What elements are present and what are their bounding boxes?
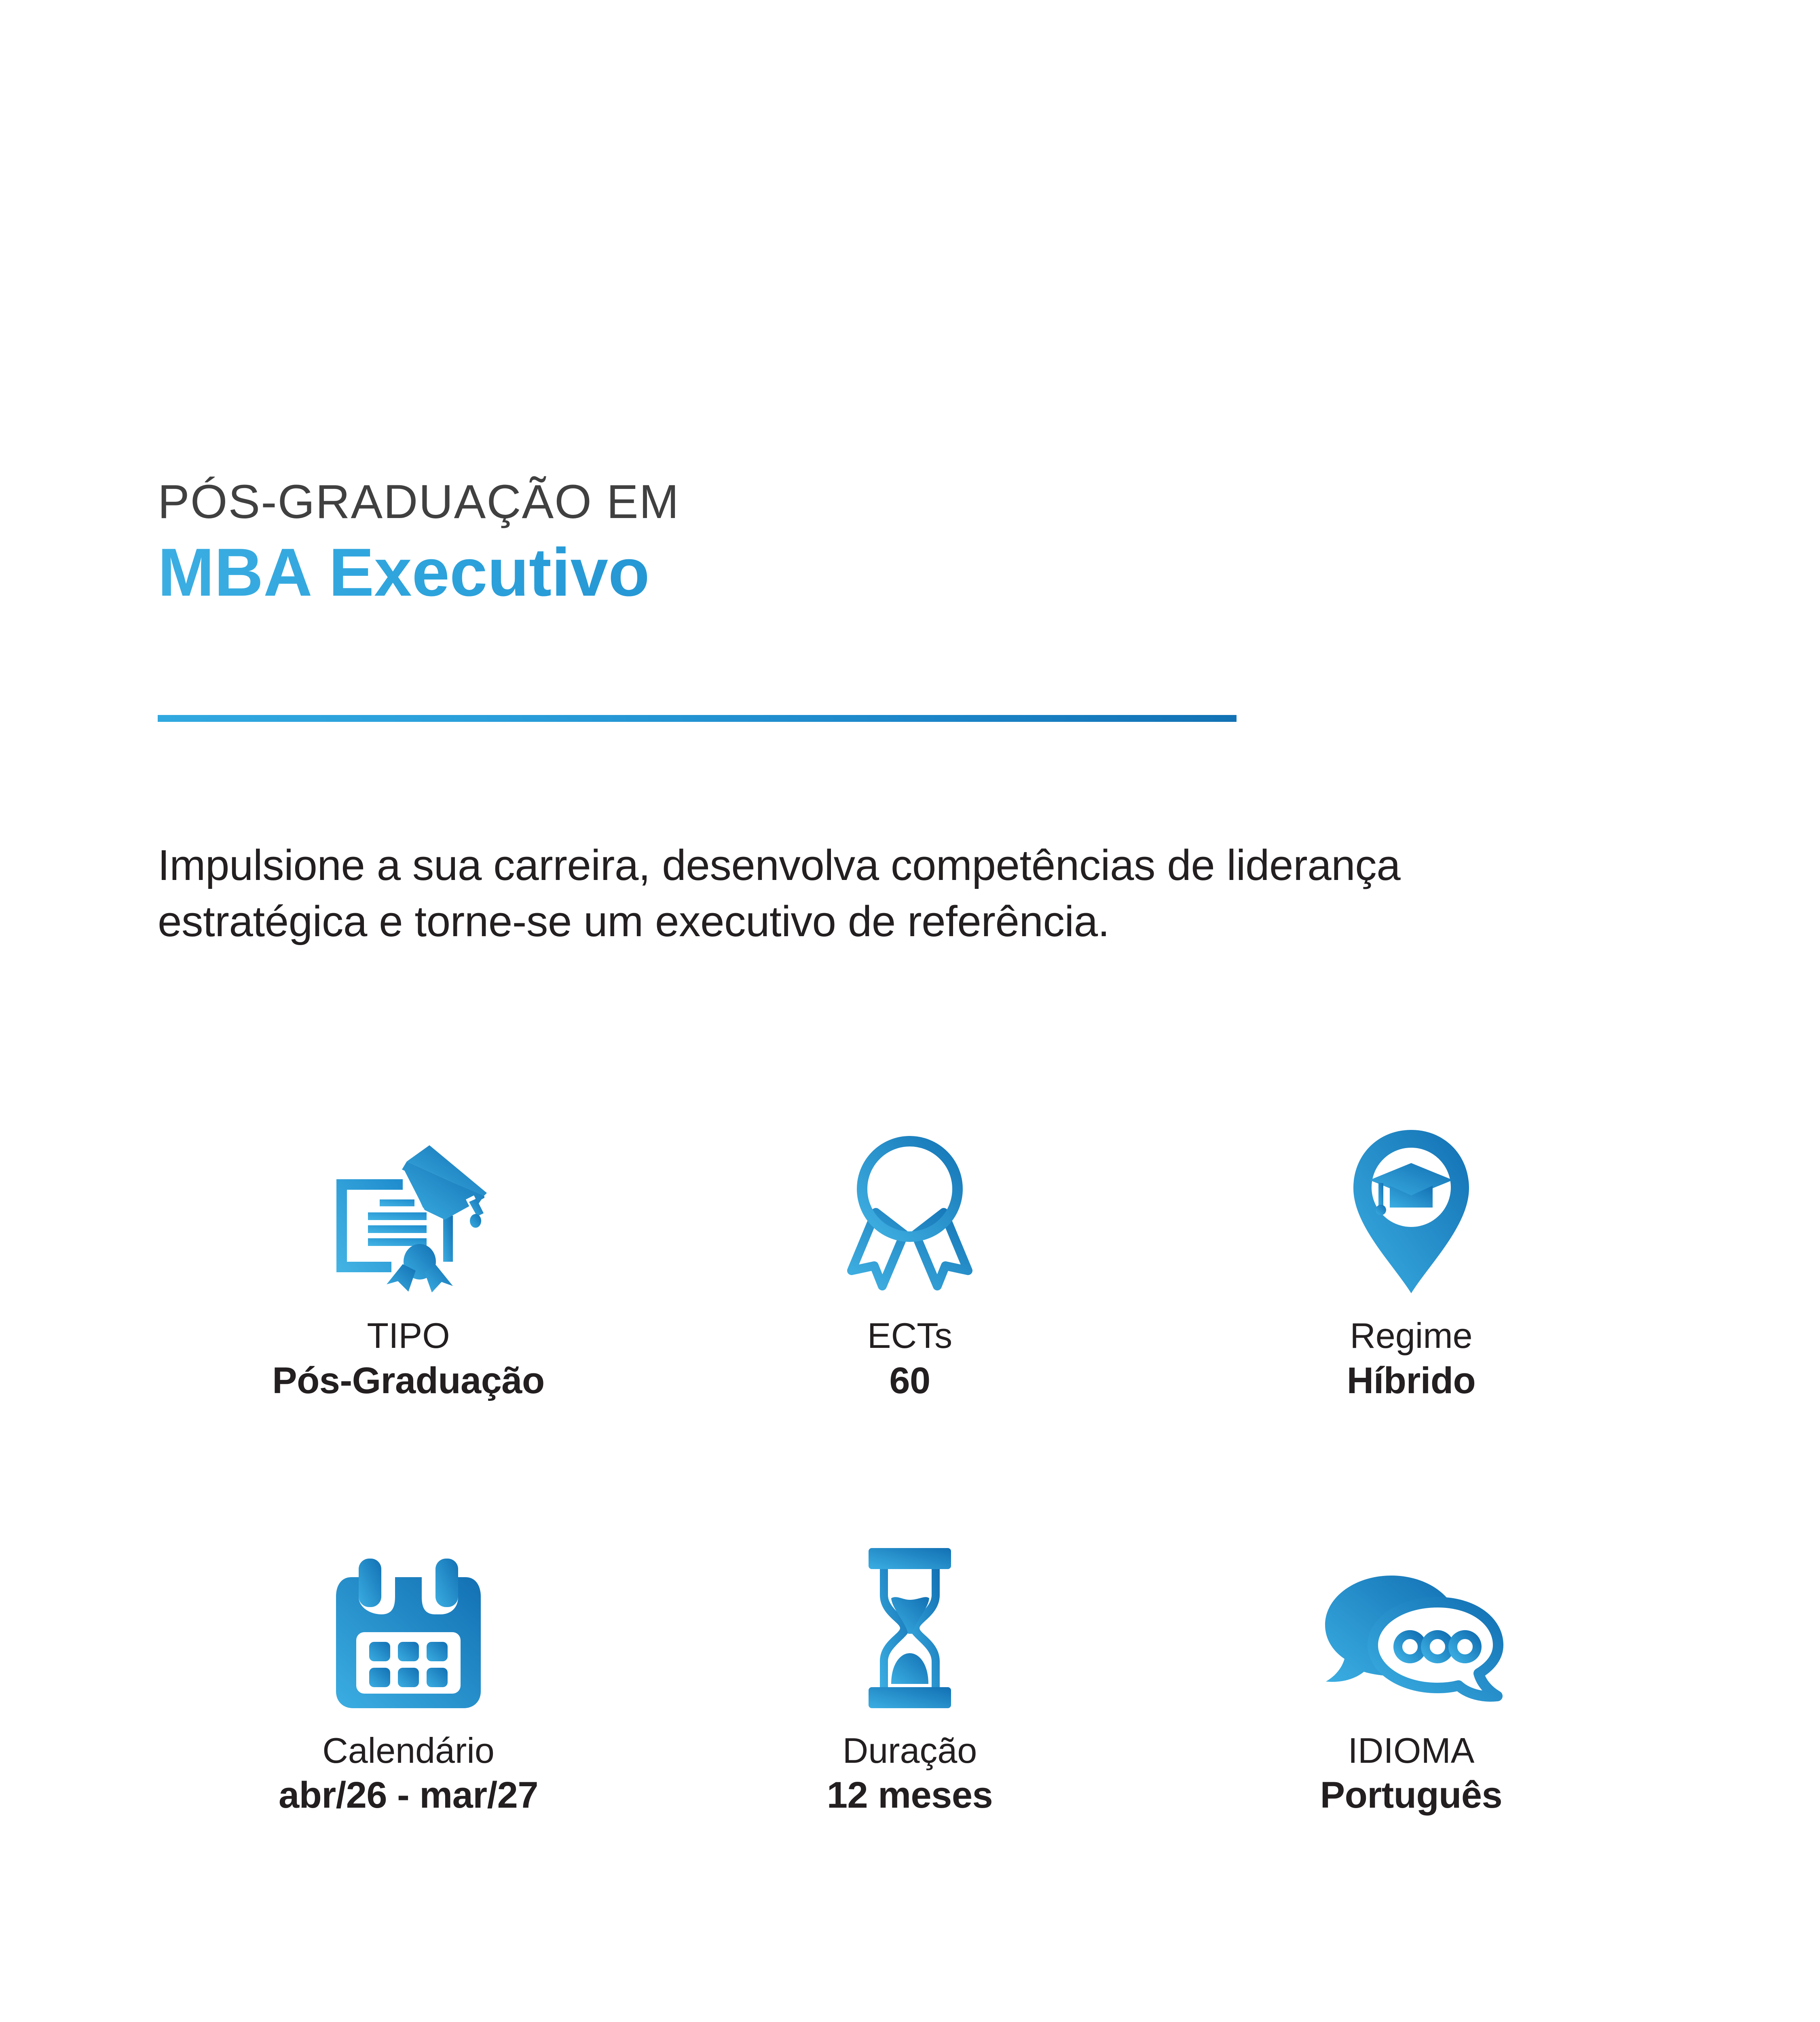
fact-label: ECTs [867,1316,952,1356]
program-facts-grid: TIPO Pós-Graduação ECTs 60 [158,1108,1662,1816]
fact-value: abr/26 - mar/27 [279,1775,538,1816]
program-intro-paragraph: Impulsione a sua carreira, desenvolva co… [158,837,1581,950]
fact-value: 12 meses [827,1775,993,1816]
award-ribbon-icon [837,1108,983,1298]
fact-item-idioma: IDIOMA Português [1160,1523,1662,1817]
fact-item-calendario: Calendário abr/26 - mar/27 [158,1523,659,1817]
fact-item-duracao: Duração 12 meses [659,1523,1160,1817]
page-title: MBA Executivo [158,534,1411,610]
fact-item-tipo: TIPO Pós-Graduação [158,1108,659,1402]
fact-value: Pós-Graduação [272,1360,544,1402]
program-level-eyebrow: PÓS-GRADUAÇÃO EM [158,475,1411,529]
speech-bubbles-icon [1316,1523,1506,1713]
fact-value: 60 [889,1360,930,1402]
header-divider [158,715,1237,722]
page-header: PÓS-GRADUAÇÃO EM MBA Executivo [158,475,1411,610]
location-pin-graduation-cap-icon [1344,1108,1478,1298]
program-summary-page: PÓS-GRADUAÇÃO EM MBA Executivo Impulsion… [0,0,1820,2022]
fact-item-regime: Regime Híbrido [1160,1108,1662,1402]
hourglass-icon [849,1523,970,1713]
fact-label: Duração [843,1731,977,1771]
fact-value: Português [1320,1775,1502,1816]
fact-label: Calendário [322,1731,495,1771]
diploma-graduation-cap-icon [323,1108,493,1298]
fact-label: IDIOMA [1348,1731,1475,1771]
fact-label: Regime [1350,1316,1472,1356]
fact-value: Híbrido [1347,1360,1475,1402]
fact-label: TIPO [367,1316,450,1356]
fact-item-ects: ECTs 60 [659,1108,1160,1402]
calendar-icon [330,1523,487,1713]
